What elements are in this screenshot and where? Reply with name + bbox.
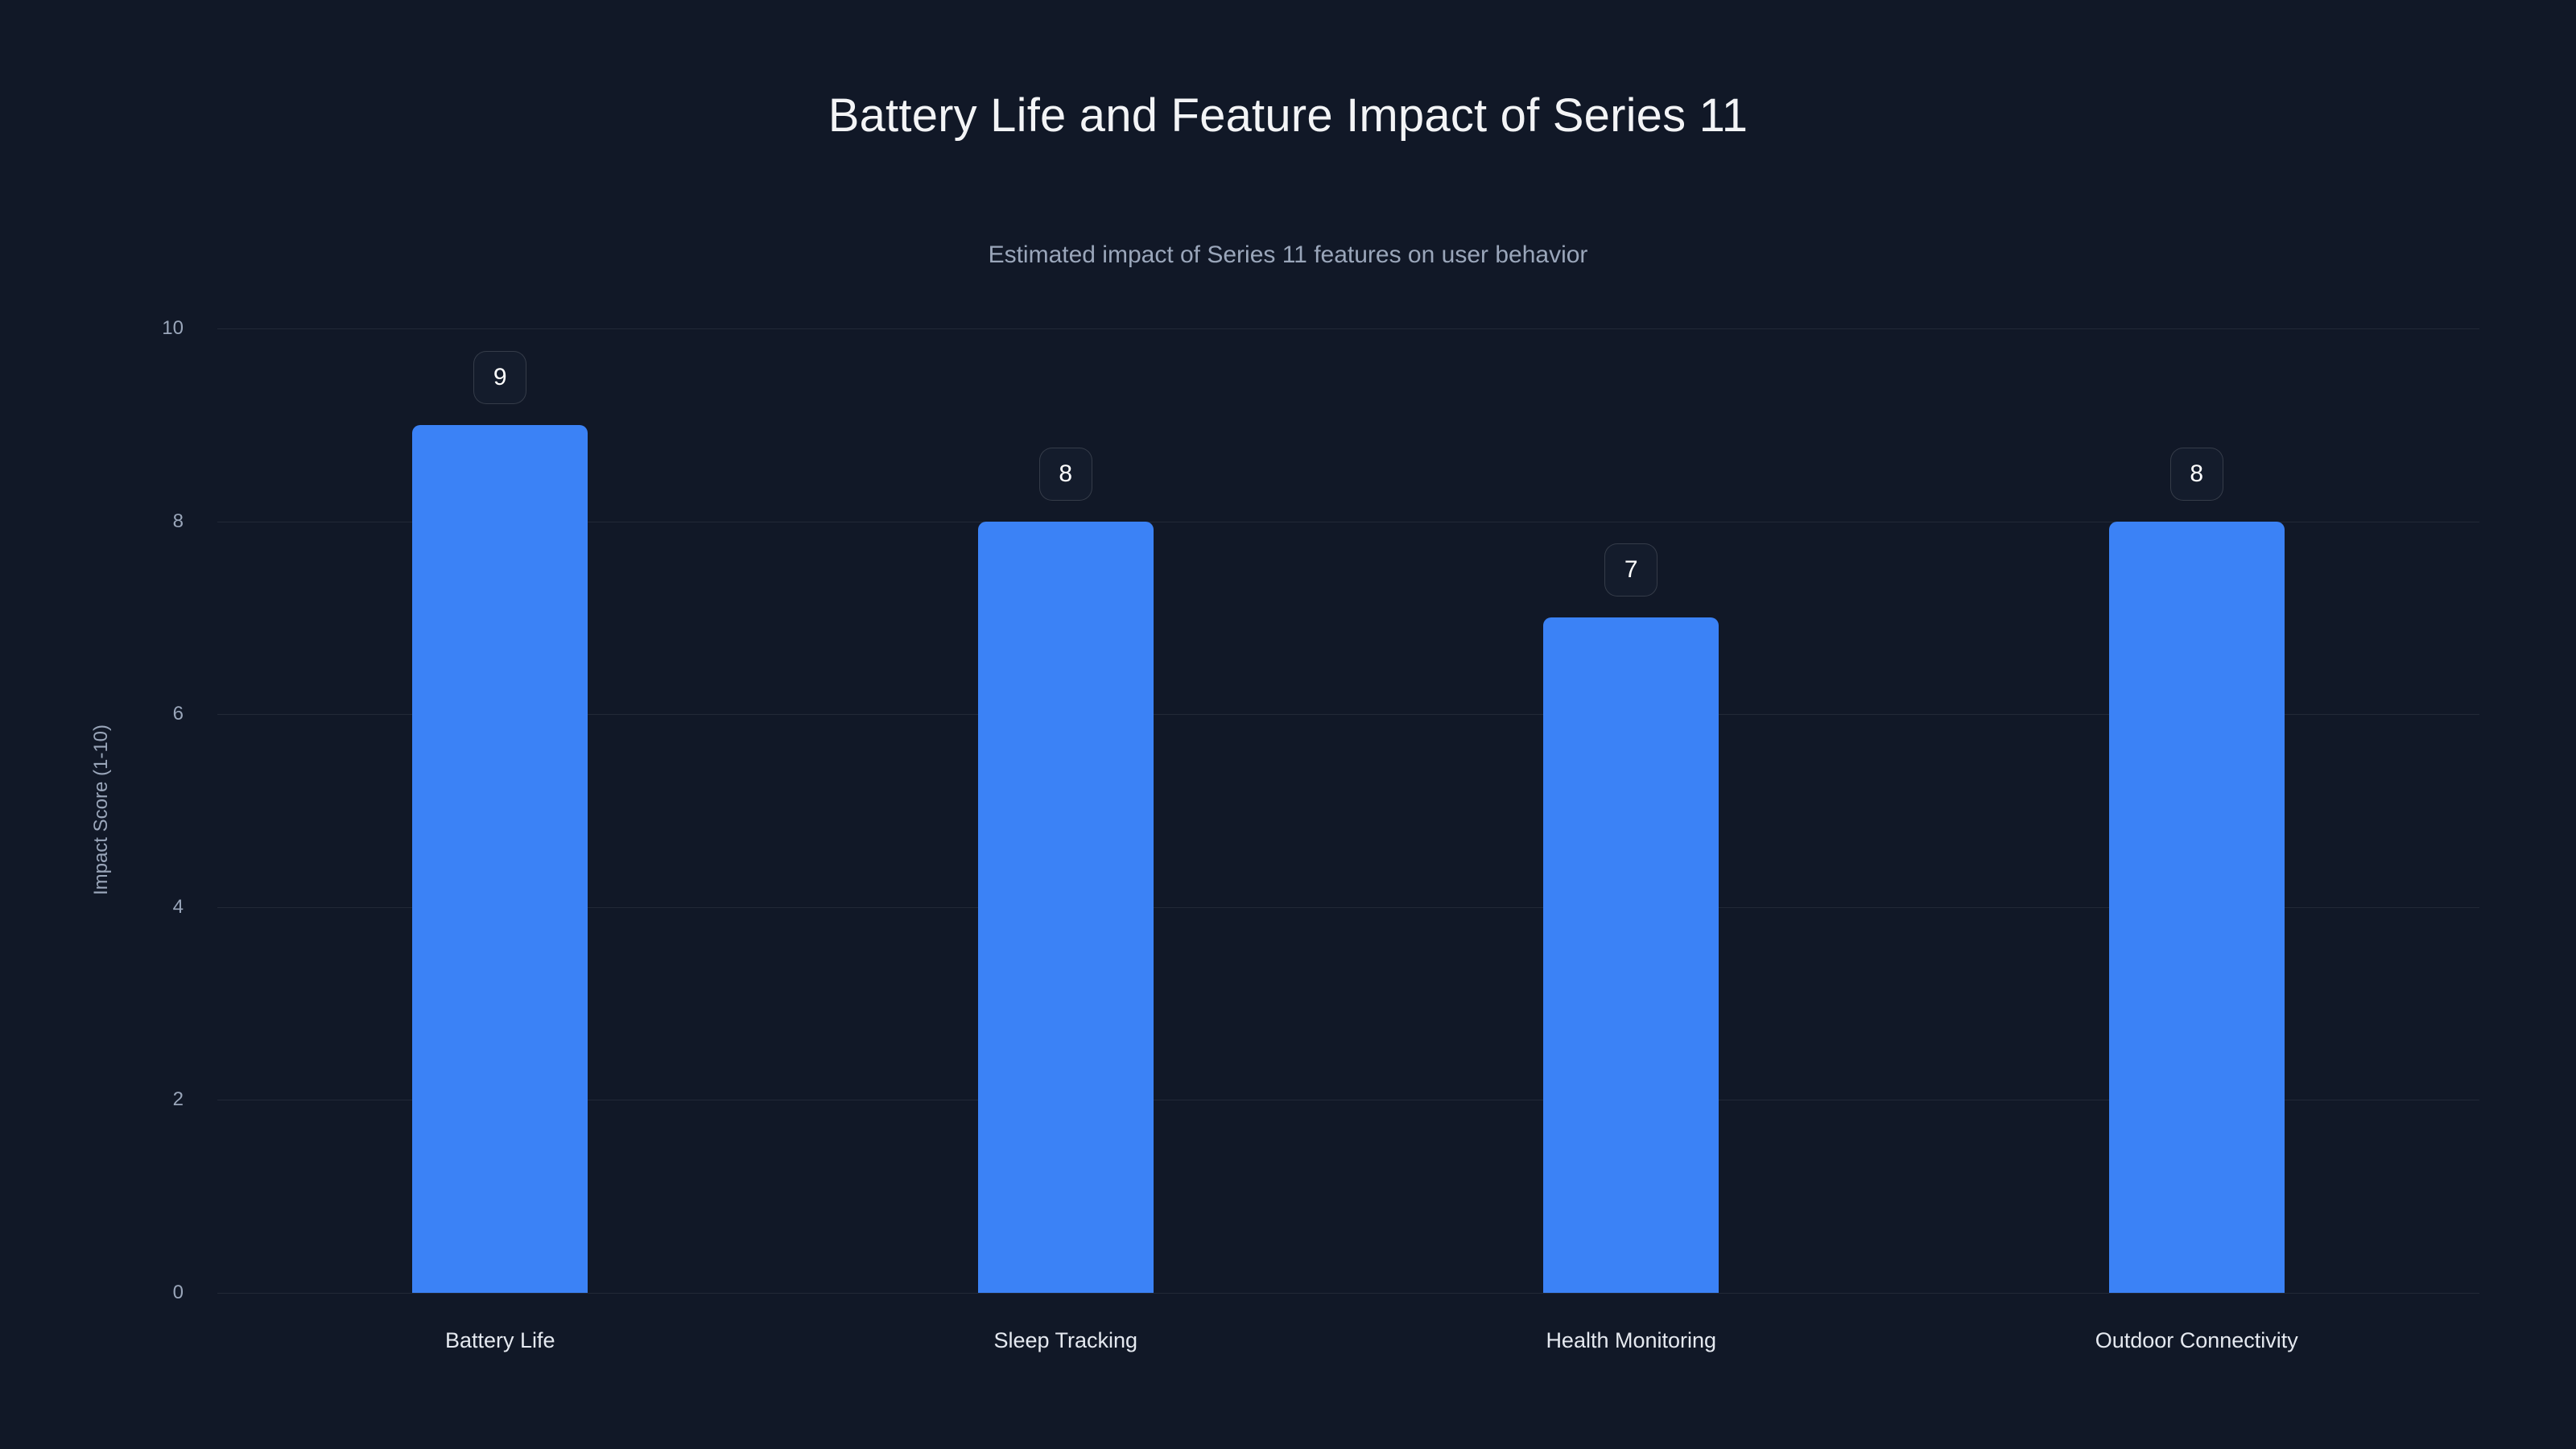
chart-subtitle: Estimated impact of Series 11 features o… xyxy=(0,242,2576,269)
y-tick-label: 4 xyxy=(173,896,184,919)
x-category-label: Health Monitoring xyxy=(1546,1328,1716,1353)
chart-title: Battery Life and Feature Impact of Serie… xyxy=(0,89,2576,142)
bar[interactable] xyxy=(412,425,588,1293)
bar-group[interactable]: 8 xyxy=(2109,328,2285,1293)
bar-value-badge: 9 xyxy=(473,351,526,404)
bar-chart: Battery Life and Feature Impact of Serie… xyxy=(0,0,2576,1449)
x-category-label: Sleep Tracking xyxy=(993,1328,1137,1353)
x-category-label: Battery Life xyxy=(445,1328,555,1353)
gridline xyxy=(217,1293,2479,1294)
bar-value-badge: 7 xyxy=(1604,543,1657,597)
x-category-label: Outdoor Connectivity xyxy=(2095,1328,2298,1353)
bar-value-badge: 8 xyxy=(2170,448,2223,501)
y-axis-tick-labels: 0246810 xyxy=(0,328,217,1293)
bar[interactable] xyxy=(978,522,1154,1293)
y-tick-label: 2 xyxy=(173,1088,184,1111)
bar[interactable] xyxy=(2109,522,2285,1293)
y-tick-label: 6 xyxy=(173,703,184,725)
x-axis-category-labels: Battery LifeSleep TrackingHealth Monitor… xyxy=(217,1328,2479,1364)
y-tick-label: 10 xyxy=(162,317,184,340)
bar-group[interactable]: 7 xyxy=(1543,328,1719,1293)
bars-layer: 9878 xyxy=(217,328,2479,1293)
y-tick-label: 0 xyxy=(173,1282,184,1304)
bar-group[interactable]: 8 xyxy=(978,328,1154,1293)
bar-value-badge: 8 xyxy=(1039,448,1092,501)
bar-group[interactable]: 9 xyxy=(412,328,588,1293)
y-tick-label: 8 xyxy=(173,510,184,533)
bar[interactable] xyxy=(1543,617,1719,1293)
